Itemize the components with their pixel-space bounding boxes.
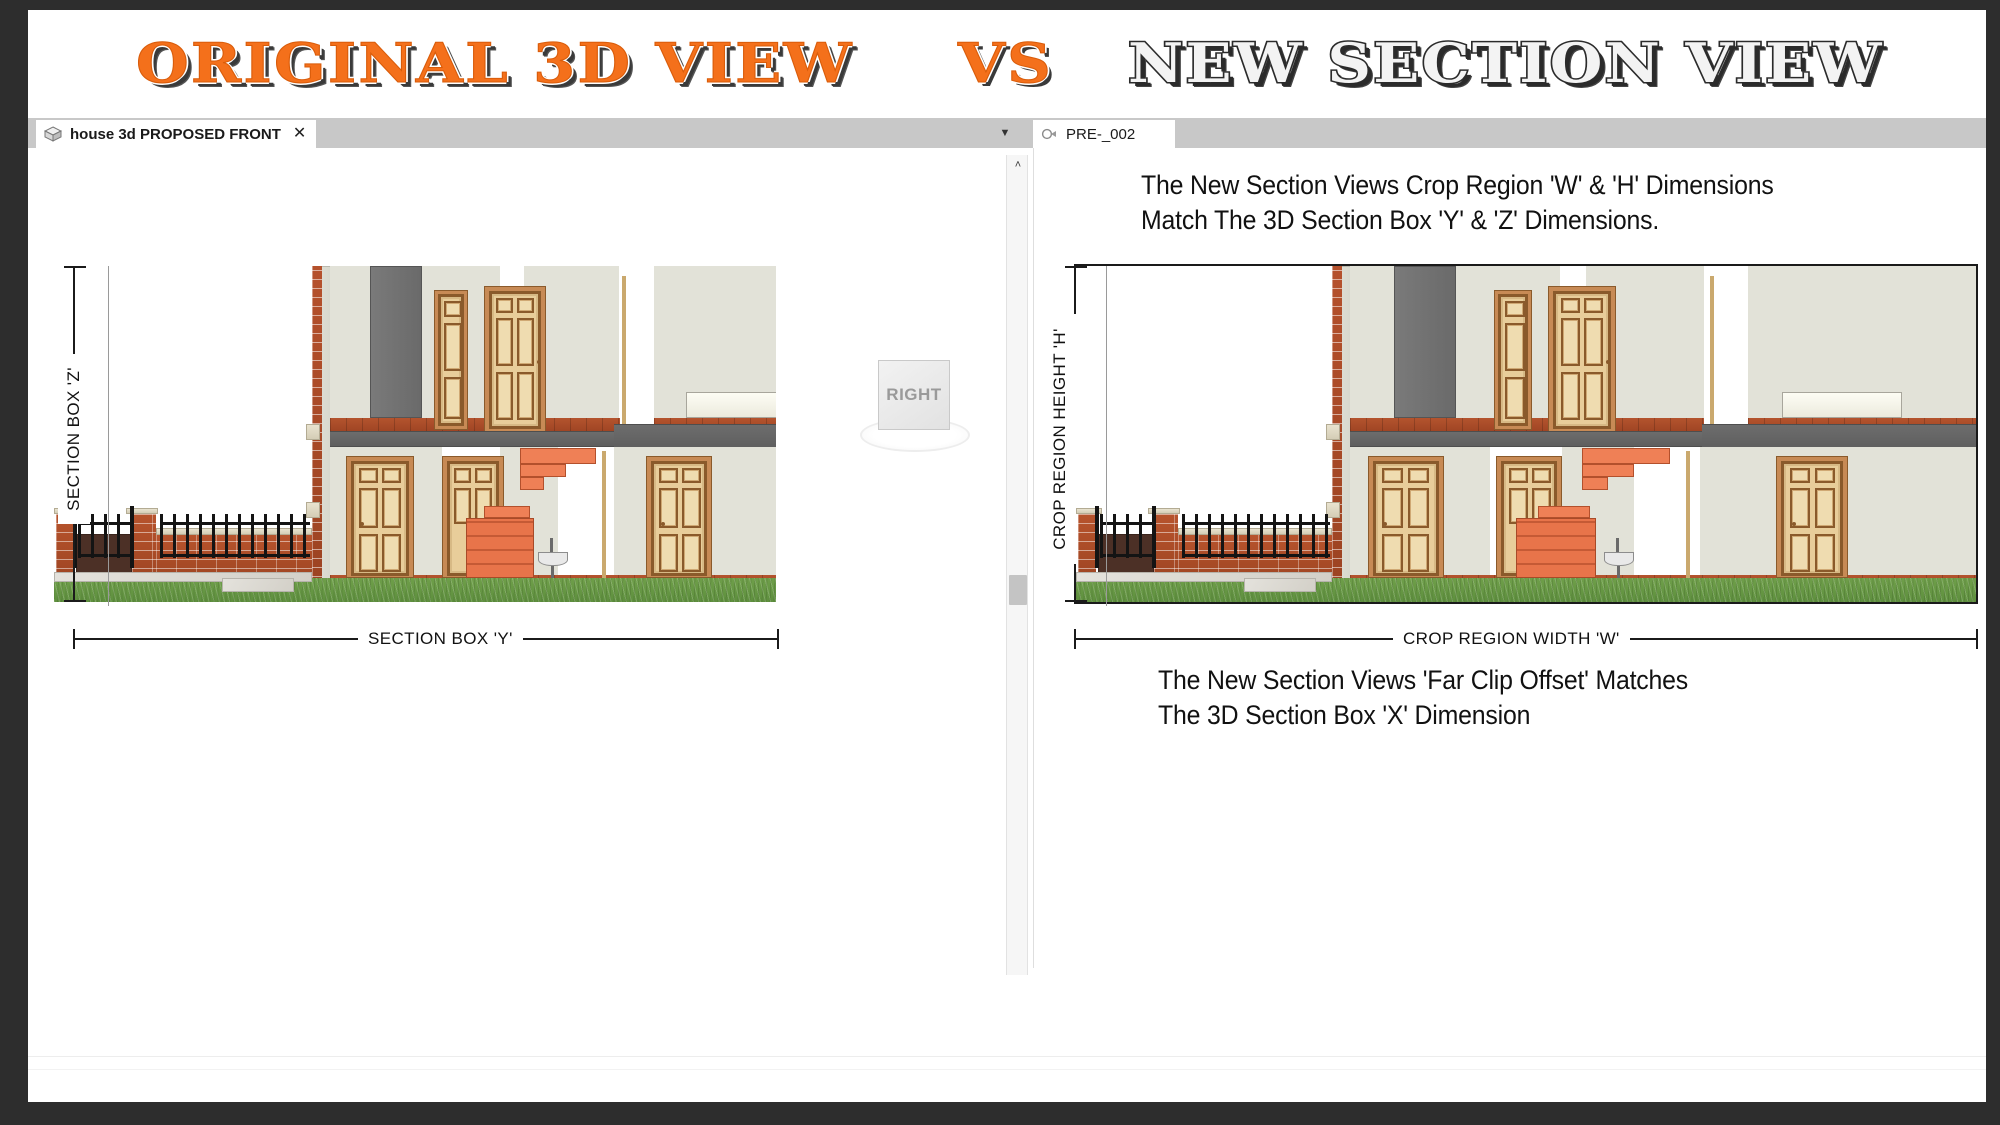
- scroll-up-arrow-icon[interactable]: ˄: [1007, 155, 1029, 175]
- wall-cill-upper: [306, 424, 320, 440]
- tab-right-label: PRE-_002: [1066, 126, 1135, 143]
- house-3d-icon: [44, 126, 62, 142]
- title-original-3d-view: ORIGINAL 3D VIEW: [136, 36, 854, 90]
- dim-tick-h-bottom: [1065, 600, 1087, 602]
- tab-strip-left: house 3d PROPOSED FRONT ✕: [28, 118, 1008, 148]
- architectural-section-drawing-3d: [54, 266, 776, 602]
- railing-post-2: [130, 506, 134, 568]
- dim-tick-h-top: [1065, 266, 1087, 268]
- view-pane-3d[interactable]: RIGHT: [28, 148, 996, 968]
- upper-door-2: [489, 291, 541, 429]
- stair-step-b: [520, 477, 544, 490]
- title-banner: ORIGINAL 3D VIEW VS NEW SECTION VIEW: [28, 10, 1986, 118]
- pane-divider: [1033, 148, 1034, 968]
- title-new-section-view: NEW SECTION VIEW: [1128, 36, 1884, 90]
- annotation-bottom: The New Section Views 'Far Clip Offset' …: [1158, 663, 1688, 732]
- floor-slab-shadow: [614, 424, 776, 448]
- upper-door-1: [438, 294, 464, 426]
- tab-house-3d-proposed-front[interactable]: house 3d PROPOSED FRONT ✕: [36, 120, 316, 148]
- sink-waste-pipe: [551, 566, 554, 578]
- close-icon[interactable]: ✕: [293, 126, 306, 142]
- stair-landing-upper: [520, 448, 596, 464]
- railing-bottom-rail-1: [78, 554, 130, 557]
- ext-line-left-top: [108, 266, 109, 606]
- crop-region-border[interactable]: [1074, 264, 1978, 604]
- bottom-divider: [28, 1056, 1986, 1057]
- dim-label-section-box-z: SECTION BOX 'Z': [58, 354, 90, 524]
- tab-left-label: house 3d PROPOSED FRONT: [70, 126, 281, 143]
- paving-threshold: [222, 578, 294, 592]
- exterior-cavity-cut: [322, 266, 330, 586]
- scrollbar-thumb[interactable]: [1009, 575, 1027, 605]
- lower-door-3: [651, 461, 707, 576]
- section-marker-icon: [1041, 126, 1057, 142]
- vertical-scrollbar[interactable]: ˄: [1006, 155, 1028, 975]
- sink-basin: [538, 552, 568, 566]
- empty-cut-area: [54, 266, 312, 514]
- chimney-stack: [370, 266, 422, 418]
- dim-tick-w-left: [1074, 629, 1076, 649]
- dim-tick-z-bottom: [64, 600, 86, 602]
- stair-flight: [466, 518, 534, 578]
- railing-section-2: [160, 514, 310, 558]
- screenshot-root: ORIGINAL 3D VIEW VS NEW SECTION VIEW hou…: [0, 0, 2000, 1125]
- upper-mullion: [622, 276, 626, 434]
- dim-tick-z-top: [64, 266, 86, 268]
- annotation-top: The New Section Views Crop Region 'W' & …: [1141, 168, 1774, 237]
- document-canvas: ORIGINAL 3D VIEW VS NEW SECTION VIEW hou…: [28, 10, 1986, 1102]
- dim-tick-w-right: [1976, 629, 1978, 649]
- upper-counter: [686, 392, 776, 418]
- ext-line-right-top: [1106, 266, 1107, 606]
- view-cube[interactable]: RIGHT: [860, 356, 970, 456]
- dim-label-crop-region-height: CROP REGION HEIGHT 'H': [1044, 314, 1076, 564]
- lower-mullion: [602, 451, 606, 579]
- stair-step-a: [520, 464, 566, 477]
- dim-label-crop-region-width: CROP REGION WIDTH 'W': [1393, 629, 1630, 649]
- chevron-down-icon[interactable]: ▼: [996, 124, 1014, 142]
- view-cube-face-right[interactable]: RIGHT: [878, 360, 950, 430]
- railing-bottom-rail-2: [160, 554, 310, 557]
- upper-brick-band: [330, 418, 620, 431]
- dim-tick-y-right: [777, 629, 779, 649]
- railing-top-rail-2: [160, 522, 310, 525]
- lower-door-1: [351, 461, 409, 576]
- view-pane-section[interactable]: The New Section Views Crop Region 'W' & …: [1038, 148, 1986, 968]
- dim-tick-y-left: [73, 629, 75, 649]
- tab-pre-002[interactable]: PRE-_002: [1033, 120, 1175, 148]
- tab-strip-right: ▼ PRE-_002: [1008, 118, 1986, 148]
- stair-step-c: [484, 506, 530, 518]
- bottom-divider-secondary: [28, 1069, 1986, 1070]
- title-vs: VS: [958, 36, 1053, 90]
- dim-label-section-box-y: SECTION BOX 'Y': [358, 629, 523, 649]
- fence-brick-pier: [132, 512, 156, 578]
